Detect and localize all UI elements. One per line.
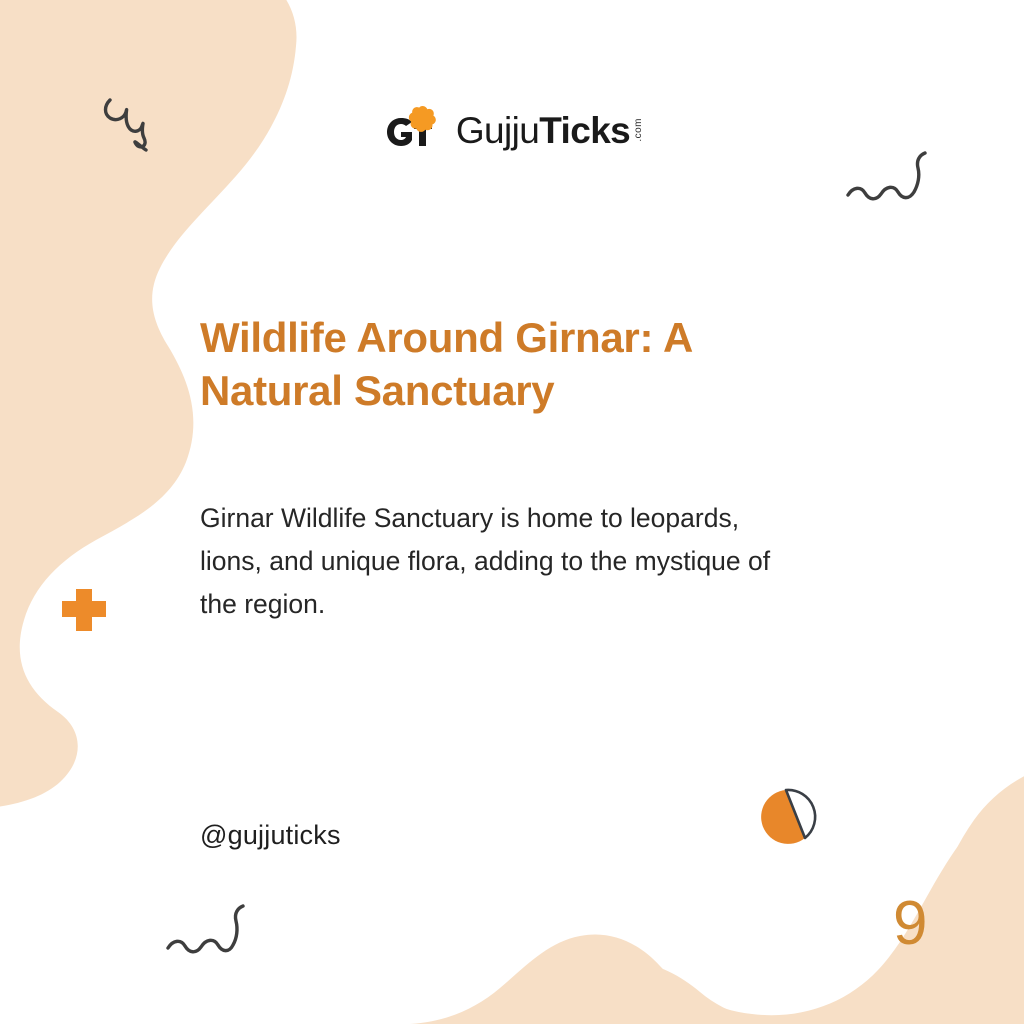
body-text: Girnar Wildlife Sanctuary is home to leo… xyxy=(200,417,800,626)
content-block: Wildlife Around Girnar: A Natural Sanctu… xyxy=(200,312,820,626)
social-post-card: GujjuTicks .com Wildlife Around Girnar: … xyxy=(0,0,1024,1024)
brand-name-light: Gujju xyxy=(456,110,539,151)
page-title: Wildlife Around Girnar: A Natural Sanctu… xyxy=(200,312,760,417)
brand-tld: .com xyxy=(633,118,644,142)
blob-bottom-right xyxy=(460,760,1024,1024)
social-handle[interactable]: @gujjuticks xyxy=(200,820,341,851)
brand-wordmark: GujjuTicks .com xyxy=(456,112,644,149)
brand-name: GujjuTicks xyxy=(456,112,630,149)
squiggle-bottom-left xyxy=(168,906,243,952)
split-circle-icon xyxy=(761,790,815,844)
slide-number: 9 xyxy=(893,893,927,955)
squiggle-top-right xyxy=(848,153,925,199)
brand-name-bold: Ticks xyxy=(539,110,630,151)
plus-icon xyxy=(62,589,106,631)
brand-logo[interactable]: GujjuTicks .com xyxy=(0,104,1024,156)
blob-bottom-right-upper xyxy=(410,772,1024,1024)
gt-monogram-icon xyxy=(380,104,442,156)
